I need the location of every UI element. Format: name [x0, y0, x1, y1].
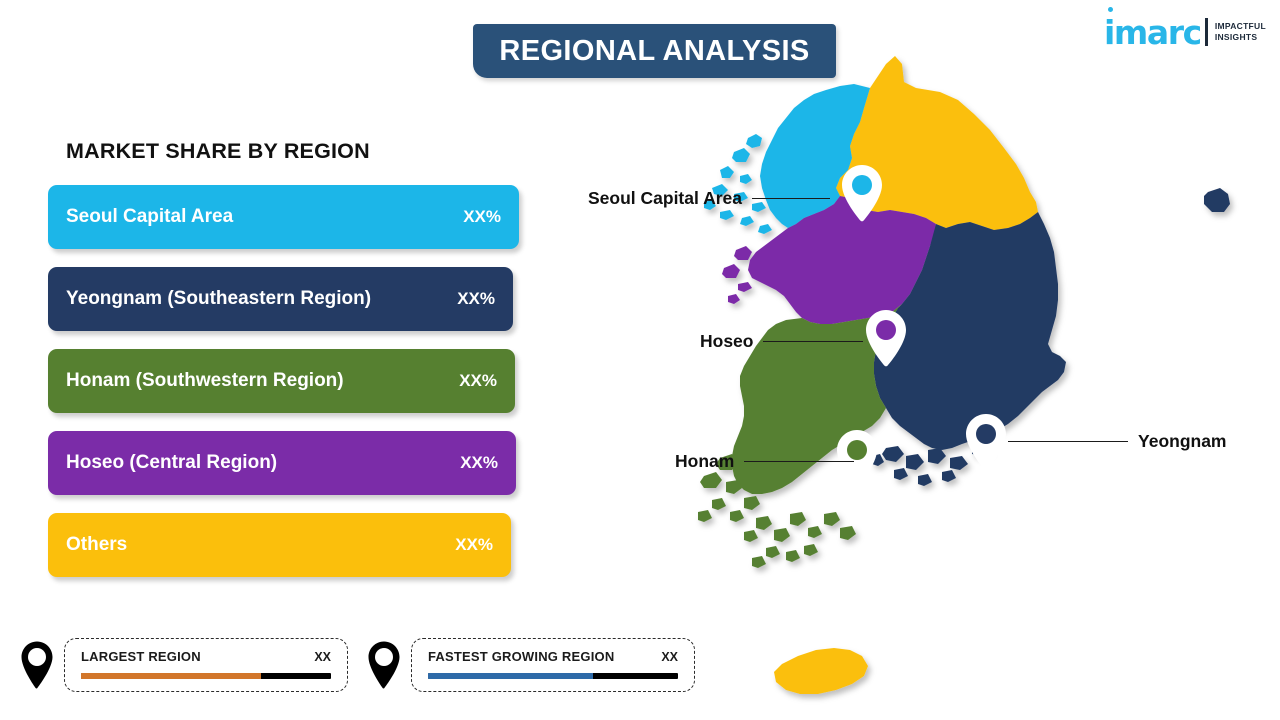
bar-value: XX% — [459, 371, 497, 391]
map-callout-label: Honam — [675, 451, 734, 472]
map-callout-honam: Honam — [675, 451, 854, 472]
bar-value: XX% — [460, 453, 498, 473]
market-share-bar[interactable]: Yeongnam (Southeastern Region) XX% — [48, 267, 513, 331]
bar-label: Seoul Capital Area — [66, 206, 233, 228]
bar-value: XX% — [463, 207, 501, 227]
kpi-progress-track — [81, 673, 331, 679]
imarc-logo: imarc IMPACTFUL INSIGHTS — [1104, 14, 1266, 50]
largest-region-box: LARGEST REGION XX — [64, 638, 348, 692]
map-region-jeju[interactable] — [774, 648, 868, 694]
map-pin-icon — [18, 640, 56, 690]
map-svg — [690, 52, 1280, 720]
bar-label: Yeongnam (Southeastern Region) — [66, 288, 371, 310]
largest-region-kpi[interactable]: LARGEST REGION XX — [18, 638, 348, 692]
bar-label: Honam (Southwestern Region) — [66, 370, 344, 392]
map-callout-label: Yeongnam — [1138, 431, 1227, 452]
market-share-bar-list: Seoul Capital Area XX% Yeongnam (Southea… — [48, 185, 528, 595]
kpi-label: LARGEST REGION — [81, 649, 201, 664]
map-islet-ulleungdo[interactable] — [1204, 188, 1230, 212]
kpi-progress-fill — [81, 673, 261, 679]
callout-leader-line — [763, 341, 863, 343]
fastest-growing-region-kpi[interactable]: FASTEST GROWING REGION XX — [365, 638, 695, 692]
logo-tagline-line2: INSIGHTS — [1215, 32, 1258, 42]
callout-leader-line — [1008, 441, 1128, 443]
kpi-value: XX — [661, 650, 678, 664]
logo-wordmark-text: imarc — [1104, 13, 1201, 52]
market-share-bar[interactable]: Hoseo (Central Region) XX% — [48, 431, 516, 495]
market-share-bar[interactable]: Honam (Southwestern Region) XX% — [48, 349, 515, 413]
kpi-progress-track — [428, 673, 678, 679]
map-callout-hoseo: Hoseo — [700, 331, 863, 352]
map-callout-seoul-capital-area: Seoul Capital Area — [588, 188, 830, 209]
kpi-label: FASTEST GROWING REGION — [428, 649, 614, 664]
bar-value: XX% — [455, 535, 493, 555]
logo-wordmark: imarc — [1104, 16, 1201, 49]
infographic-canvas: REGIONAL ANALYSIS imarc IMPACTFUL INSIGH… — [0, 0, 1280, 720]
market-share-bar[interactable]: Others XX% — [48, 513, 511, 577]
callout-leader-line — [752, 198, 830, 200]
map-callout-yeongnam: Yeongnam — [1008, 431, 1227, 452]
market-share-bar[interactable]: Seoul Capital Area XX% — [48, 185, 519, 249]
fastest-growing-region-box: FASTEST GROWING REGION XX — [411, 638, 695, 692]
kpi-progress-fill — [428, 673, 593, 679]
map-coast-hoseo — [722, 246, 752, 304]
logo-tagline: IMPACTFUL INSIGHTS — [1215, 21, 1266, 44]
logo-dot-icon — [1108, 7, 1113, 12]
kpi-value: XX — [314, 650, 331, 664]
map-callout-label: Hoseo — [700, 331, 753, 352]
logo-tagline-line1: IMPACTFUL — [1215, 21, 1266, 31]
map-pin-yeongnam[interactable] — [966, 414, 1006, 470]
market-share-heading: MARKET SHARE BY REGION — [66, 139, 370, 164]
bar-label: Hoseo (Central Region) — [66, 452, 277, 474]
callout-leader-line — [744, 461, 854, 463]
logo-divider — [1205, 18, 1208, 46]
south-korea-region-map[interactable] — [690, 52, 1280, 720]
bar-label: Others — [66, 534, 127, 556]
map-pin-icon — [365, 640, 403, 690]
map-callout-label: Seoul Capital Area — [588, 188, 742, 209]
bar-value: XX% — [457, 289, 495, 309]
